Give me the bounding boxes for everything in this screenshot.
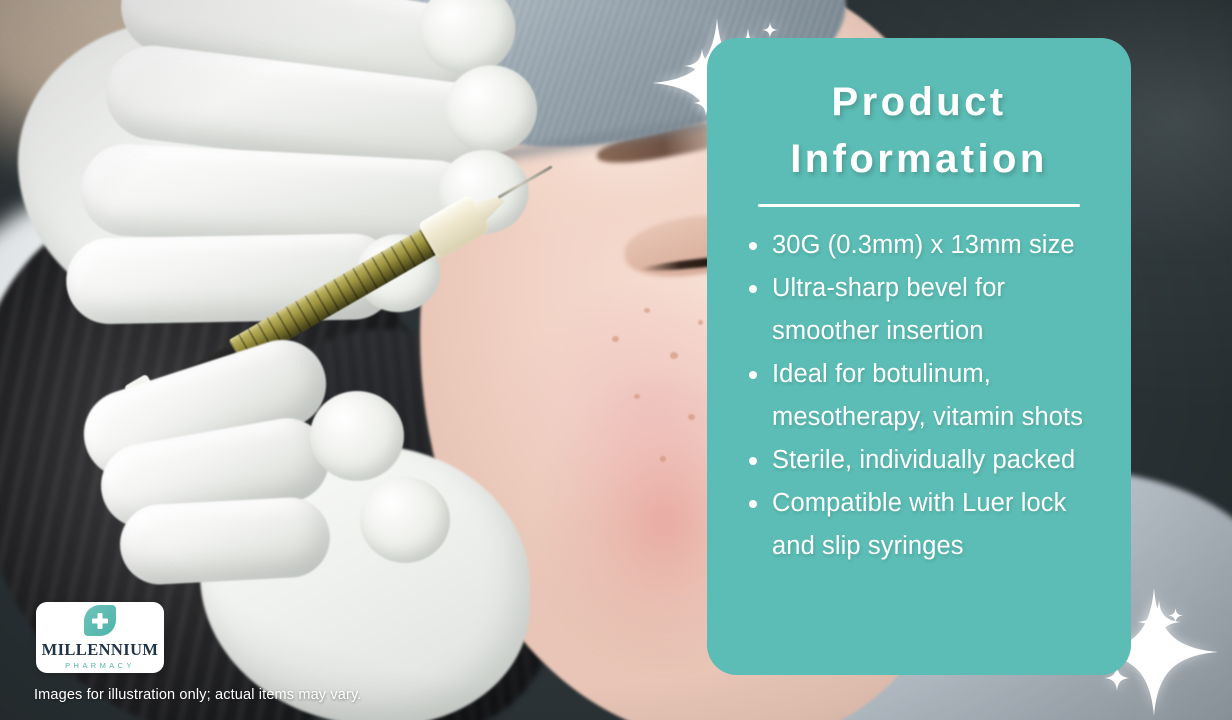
- list-item: Ideal for botulinum, mesotherapy, vitami…: [749, 353, 1109, 439]
- product-information-card: Product Information 30G (0.3mm) x 13mm s…: [707, 38, 1131, 675]
- brand-name: MILLENNIUM: [42, 641, 159, 660]
- card-title-line-1: Product: [707, 74, 1131, 131]
- brand-subtitle: PHARMACY: [65, 661, 135, 670]
- card-title: Product Information: [707, 74, 1131, 188]
- card-title-line-2: Information: [707, 131, 1131, 188]
- title-divider: [758, 204, 1080, 207]
- disclaimer-text: Images for illustration only; actual ite…: [34, 687, 361, 703]
- list-item: 30G (0.3mm) x 13mm size: [749, 224, 1109, 267]
- feature-list: 30G (0.3mm) x 13mm size Ultra-sharp beve…: [707, 224, 1131, 568]
- leaf-cross-icon: [84, 605, 116, 636]
- syringe-needle: [498, 165, 553, 199]
- brand-logo-badge: MILLENNIUM PHARMACY: [36, 602, 164, 673]
- poster-canvas: Product Information 30G (0.3mm) x 13mm s…: [0, 0, 1232, 720]
- list-item: Compatible with Luer lock and slip syrin…: [749, 482, 1109, 568]
- list-item: Sterile, individually packed: [749, 439, 1109, 482]
- list-item: Ultra-sharp bevel for smoother insertion: [749, 267, 1109, 353]
